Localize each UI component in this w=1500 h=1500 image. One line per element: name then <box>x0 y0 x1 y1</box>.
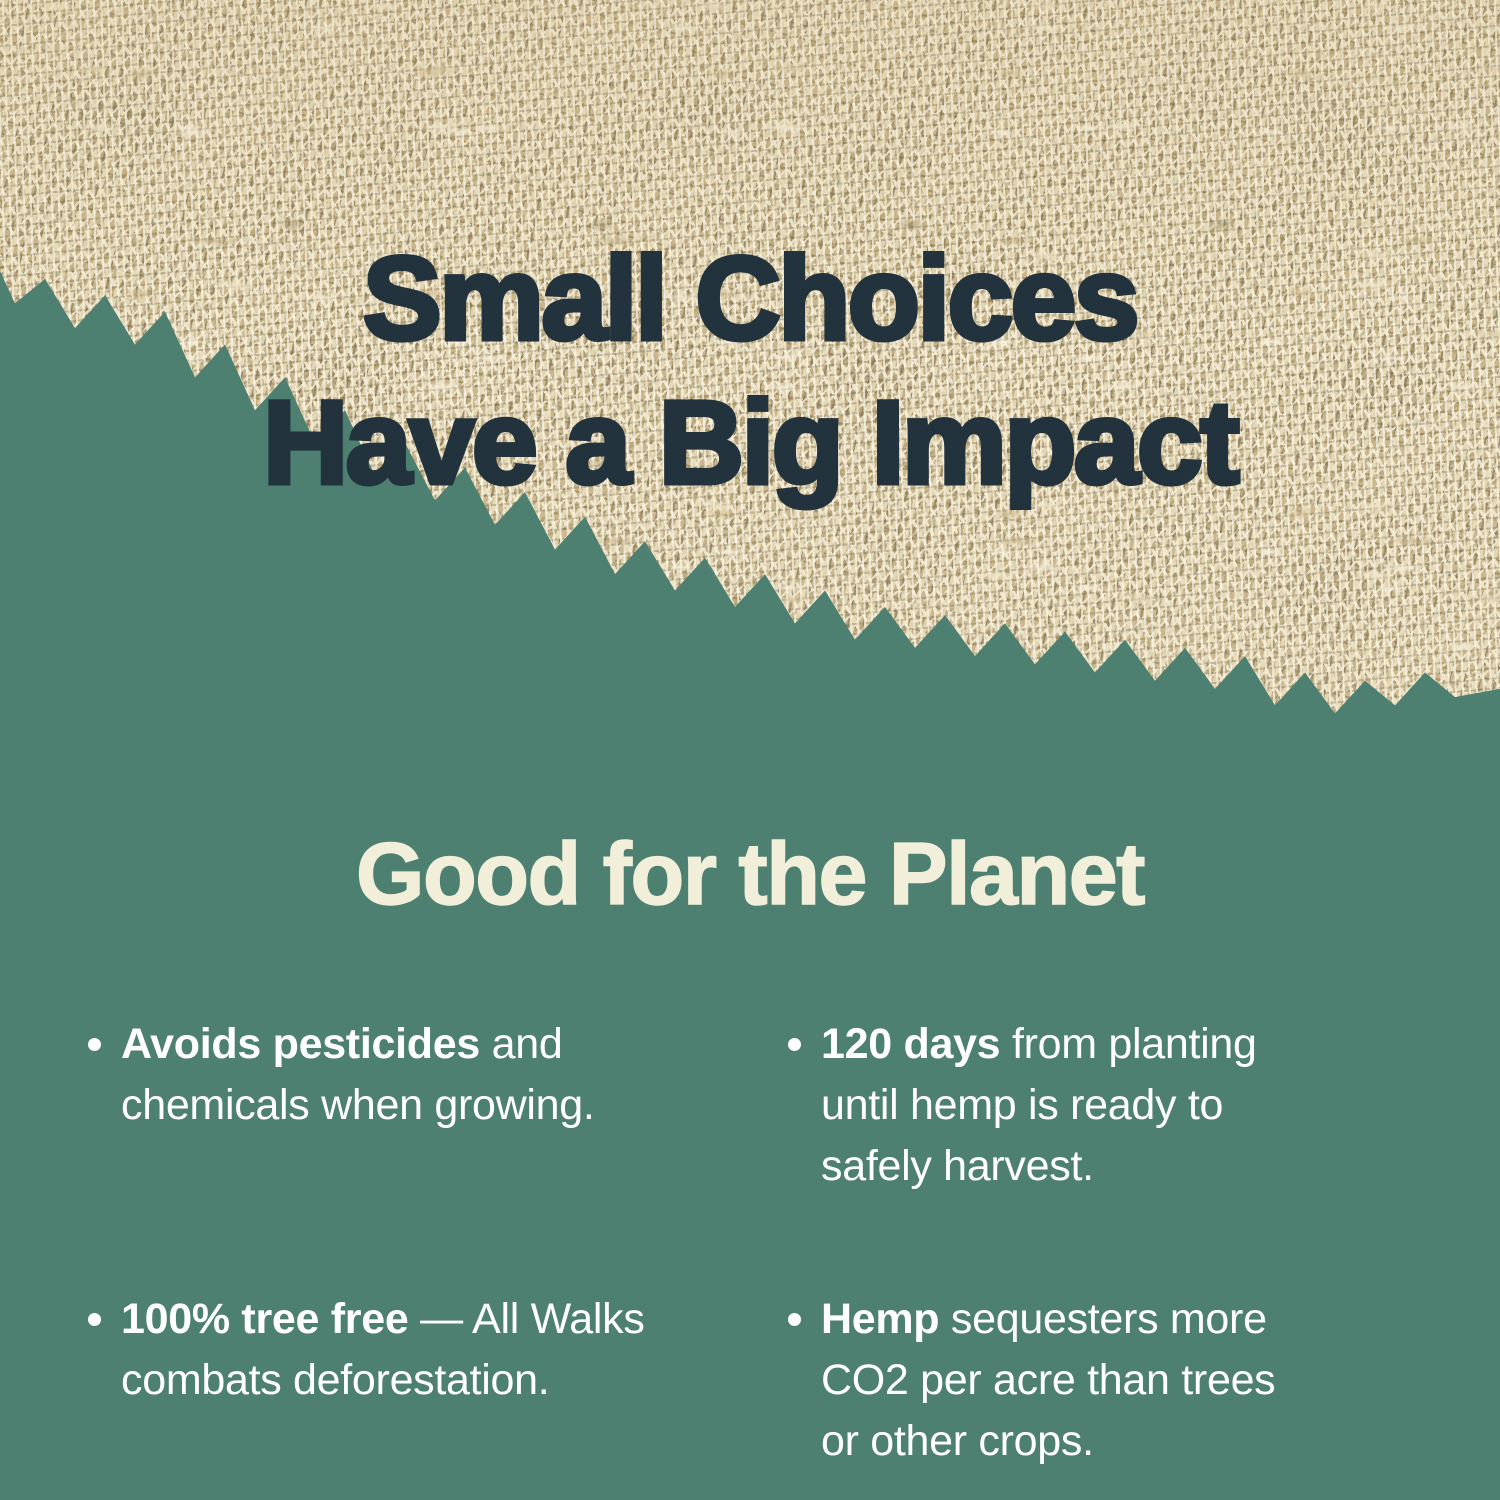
benefits-grid: Avoids pesticides and chemicals when gro… <box>88 1014 1418 1472</box>
bullet-dot-icon <box>788 1313 801 1326</box>
benefit-text: Hemp sequesters more CO2 per acre than t… <box>821 1289 1291 1472</box>
benefit-lead: Hemp <box>821 1295 939 1343</box>
benefit-text: 120 days from planting until hemp is rea… <box>821 1014 1291 1197</box>
benefit-item-tree-free: 100% tree free — All Walks combats defor… <box>88 1289 788 1472</box>
section-subtitle: Good for the Planet <box>0 826 1500 923</box>
benefit-item-avoids-pesticides: Avoids pesticides and chemicals when gro… <box>88 1014 788 1197</box>
benefit-lead: 100% tree free <box>121 1295 408 1343</box>
benefit-text: 100% tree free — All Walks combats defor… <box>121 1289 661 1411</box>
bullet-dot-icon <box>88 1038 101 1051</box>
benefit-item-120-days: 120 days from planting until hemp is rea… <box>788 1014 1348 1197</box>
benefit-item-hemp-sequesters-co2: Hemp sequesters more CO2 per acre than t… <box>788 1289 1348 1472</box>
benefit-lead: Avoids pesticides <box>121 1020 480 1068</box>
page-headline: Small Choices Have a Big Impact <box>0 228 1500 516</box>
promo-poster: Small Choices Have a Big Impact Good for… <box>0 0 1500 1500</box>
benefit-text: Avoids pesticides and chemicals when gro… <box>121 1014 661 1136</box>
bullet-dot-icon <box>88 1313 101 1326</box>
bullet-dot-icon <box>788 1038 801 1051</box>
benefit-lead: 120 days <box>821 1020 1000 1068</box>
